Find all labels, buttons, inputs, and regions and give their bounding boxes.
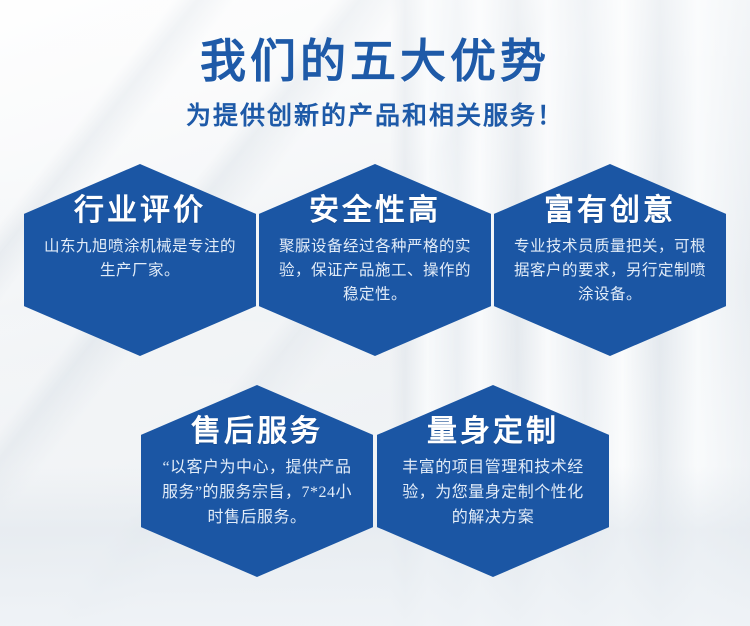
advantage-card-3-title: 富有创意 [544,194,676,227]
advantage-card-5[interactable]: 量身定制 丰富的项目管理和技术经验，为您量身定制个性化的解决方案 [377,385,609,577]
poster-header: 我们的五大优势 为提供创新的产品和相关服务！ [0,36,750,131]
advantage-card-3[interactable]: 富有创意 专业技术员质量把关，可根据客户的要求，另行定制喷涂设备。 [494,164,726,356]
advantage-card-2-body: 聚脲设备经过各种严格的实验，保证产品施工、操作的稳定性。 [277,235,473,307]
advantage-card-5-title: 量身定制 [427,415,559,448]
advantage-card-1-body: 山东九旭喷涂机械是专注的生产厂家。 [42,235,238,283]
advantage-card-4-body: “以客户为中心，提供产品服务”的服务宗旨，7*24小时售后服务。 [159,456,355,530]
advantage-card-5-body: 丰富的项目管理和技术经验，为您量身定制个性化的解决方案 [395,456,591,530]
advantage-card-1-title: 行业评价 [74,194,206,227]
advantage-card-3-body: 专业技术员质量把关，可根据客户的要求，另行定制喷涂设备。 [512,235,708,307]
page-subtitle: 为提供创新的产品和相关服务！ [0,101,750,131]
advantage-card-4[interactable]: 售后服务 “以客户为中心，提供产品服务”的服务宗旨，7*24小时售后服务。 [141,385,373,577]
page-title: 我们的五大优势 [0,36,750,89]
advantage-card-4-title: 售后服务 [191,415,323,448]
advantages-poster: 我们的五大优势 为提供创新的产品和相关服务！ 行业评价 山东九旭喷涂机械是专注的… [0,0,750,626]
advantage-card-2-title: 安全性高 [309,194,441,227]
advantage-card-2[interactable]: 安全性高 聚脲设备经过各种严格的实验，保证产品施工、操作的稳定性。 [259,164,491,356]
advantage-card-1[interactable]: 行业评价 山东九旭喷涂机械是专注的生产厂家。 [24,164,256,356]
